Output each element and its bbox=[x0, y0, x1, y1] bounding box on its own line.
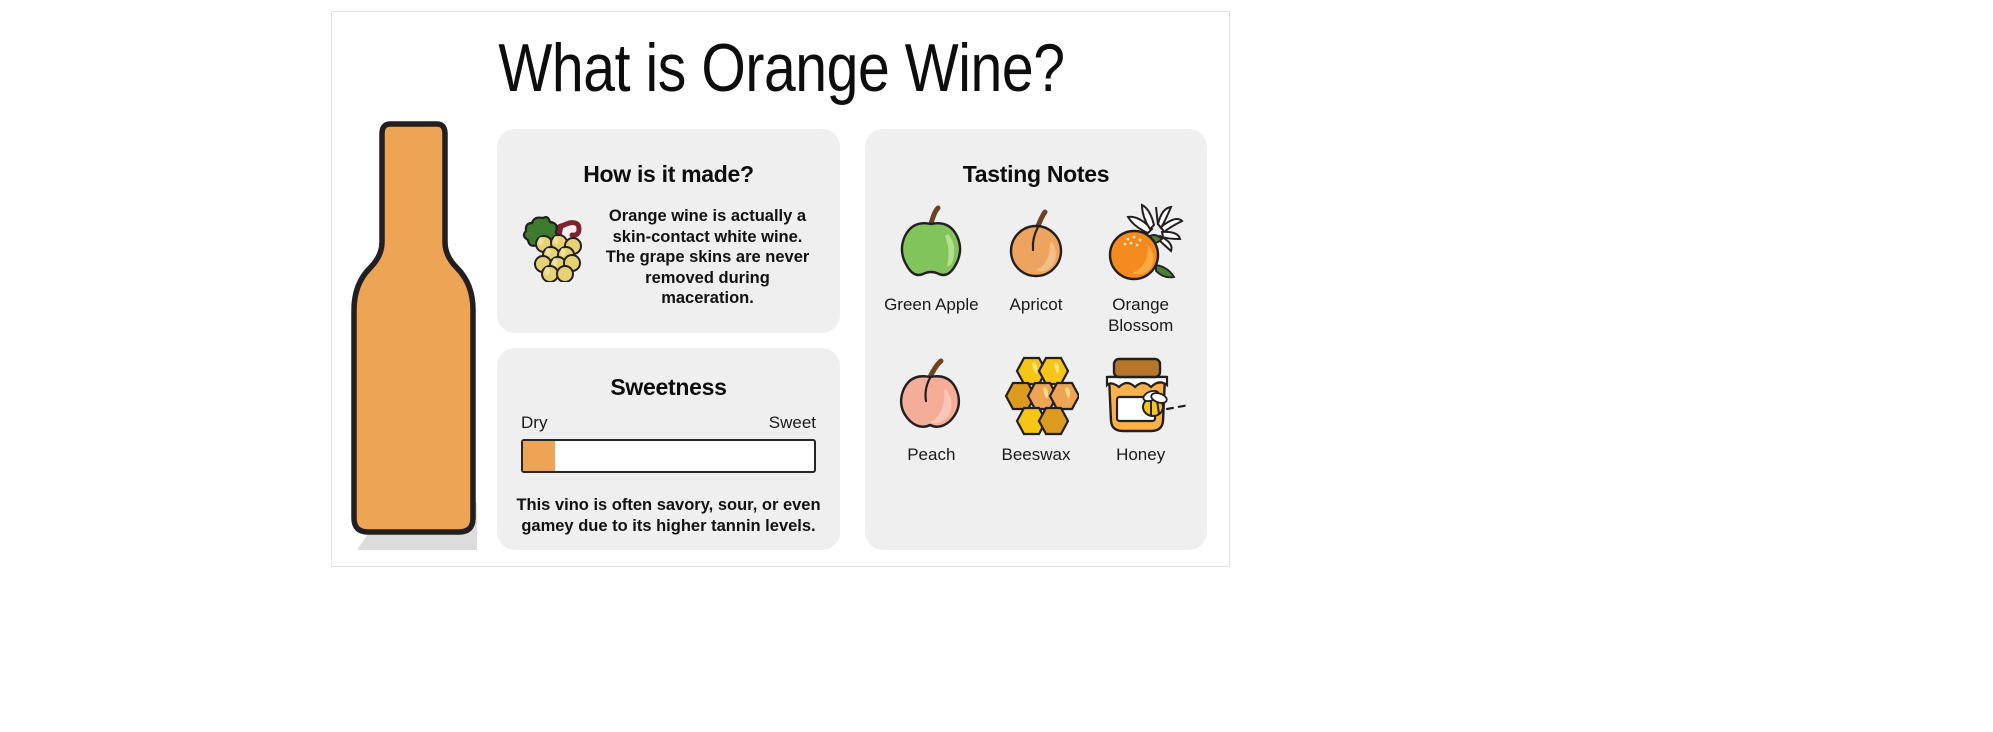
bee-flight-trail bbox=[1167, 405, 1189, 409]
tasting-note-label: Honey bbox=[1116, 444, 1165, 465]
peach-stem bbox=[930, 361, 941, 377]
tasting-note-beeswax: Beeswax bbox=[984, 348, 1089, 498]
tasting-notes-grid: Green Apple Apricot bbox=[865, 188, 1207, 498]
sweetness-meter-track[interactable] bbox=[521, 439, 816, 473]
tasting-note-green-apple: Green Apple bbox=[879, 198, 984, 348]
honey-jar-icon bbox=[1093, 348, 1189, 440]
sweetness-scale-labels: Dry Sweet bbox=[497, 413, 840, 433]
sweetness-card: Sweetness Dry Sweet This vino is often s… bbox=[497, 348, 840, 550]
jar-lid bbox=[1114, 359, 1160, 377]
tasting-note-peach: Peach bbox=[879, 348, 984, 498]
tasting-notes-heading: Tasting Notes bbox=[865, 161, 1207, 188]
sweetness-label-dry: Dry bbox=[521, 413, 547, 433]
orange-leaf bbox=[1156, 265, 1174, 277]
sweetness-label-sweet: Sweet bbox=[769, 413, 816, 433]
how-is-it-made-card: How is it made? bbox=[497, 129, 840, 333]
sweetness-meter-fill bbox=[523, 441, 555, 471]
infographic-poster: What is Orange Wine? How is it made? bbox=[331, 11, 1230, 567]
tasting-note-label: Orange Blossom bbox=[1093, 294, 1189, 336]
green-apple-icon bbox=[893, 198, 969, 290]
how-made-text: Orange wine is actually a skin-contact w… bbox=[597, 206, 818, 309]
sweetness-heading: Sweetness bbox=[497, 374, 840, 401]
bottle-shape bbox=[354, 124, 473, 532]
tasting-note-label: Peach bbox=[907, 444, 955, 465]
apricot-stem bbox=[1038, 212, 1045, 226]
tasting-notes-card: Tasting Notes Green Apple bbox=[865, 129, 1207, 550]
beeswax-honeycomb-icon bbox=[993, 348, 1079, 440]
tasting-note-label: Beeswax bbox=[1002, 444, 1071, 465]
screenshot-canvas: What is Orange Wine? How is it made? bbox=[0, 0, 1993, 732]
tasting-note-label: Apricot bbox=[1010, 294, 1063, 315]
how-made-body-row: Orange wine is actually a skin-contact w… bbox=[497, 206, 840, 309]
blossom-stamen bbox=[1156, 207, 1158, 225]
peach-icon bbox=[892, 348, 970, 440]
tasting-note-apricot: Apricot bbox=[984, 198, 1089, 348]
sweetness-note: This vino is often savory, sour, or even… bbox=[515, 495, 822, 537]
tasting-note-honey: Honey bbox=[1088, 348, 1193, 498]
orange-blossom-icon bbox=[1098, 198, 1184, 290]
tasting-note-orange-blossom: Orange Blossom bbox=[1088, 198, 1193, 348]
apricot-icon bbox=[1000, 198, 1072, 290]
how-made-heading: How is it made? bbox=[497, 161, 840, 188]
grapes-icon bbox=[521, 210, 587, 287]
tasting-note-label: Green Apple bbox=[884, 294, 979, 315]
apple-stem bbox=[931, 208, 938, 224]
page-title: What is Orange Wine? bbox=[404, 30, 1159, 106]
